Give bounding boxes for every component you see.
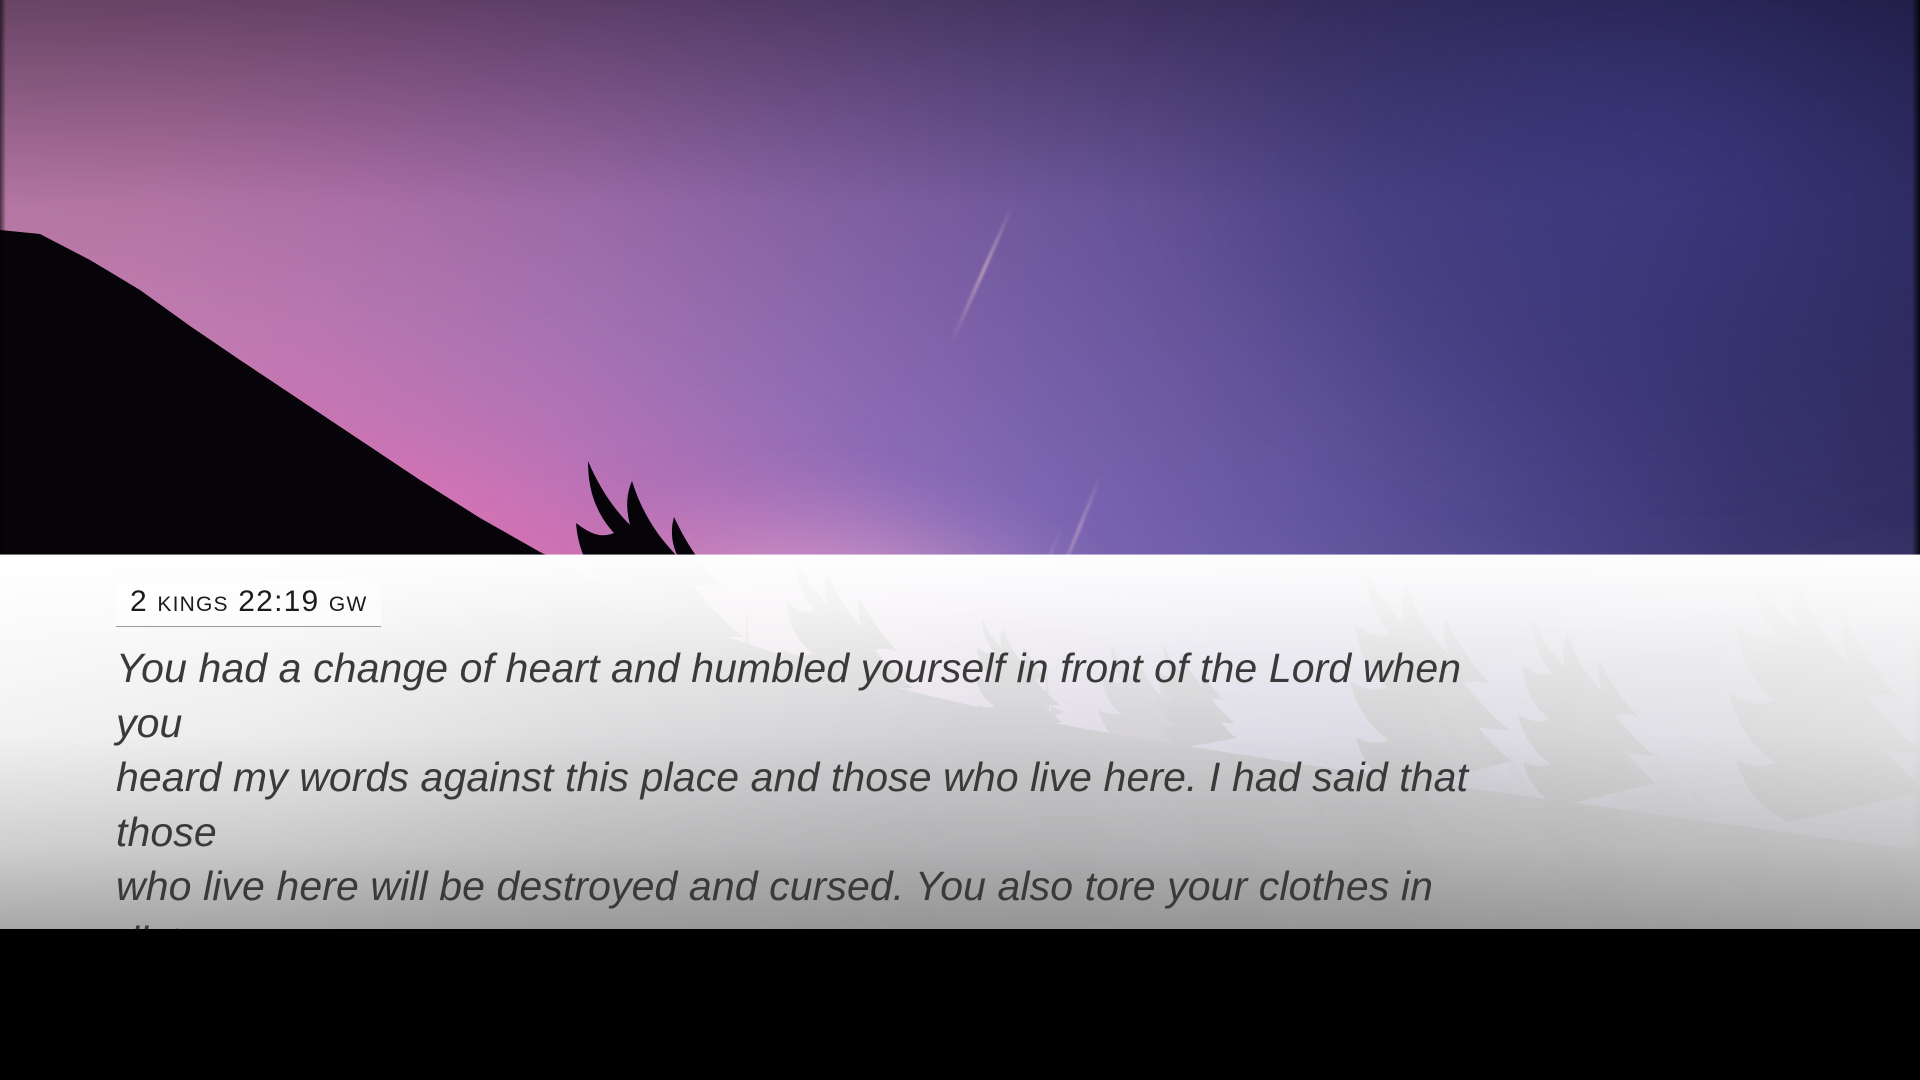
bottom-letterbox xyxy=(0,929,1920,1080)
verse-text-block: 2 Kings 22:19 GW You had a change of hea… xyxy=(116,555,1536,929)
verse-line: You had a change of heart and humbled yo… xyxy=(116,641,1506,750)
verse-reference: 2 Kings 22:19 GW xyxy=(116,581,381,627)
verse-line: who live here will be destroyed and curs… xyxy=(116,859,1506,929)
verse-overlay-panel: 2 Kings 22:19 GW You had a change of hea… xyxy=(0,555,1920,929)
wallpaper-canvas: 2 Kings 22:19 GW You had a change of hea… xyxy=(0,0,1920,1080)
verse-line: heard my words against this place and th… xyxy=(116,750,1506,859)
verse-body: You had a change of heart and humbled yo… xyxy=(116,641,1506,929)
